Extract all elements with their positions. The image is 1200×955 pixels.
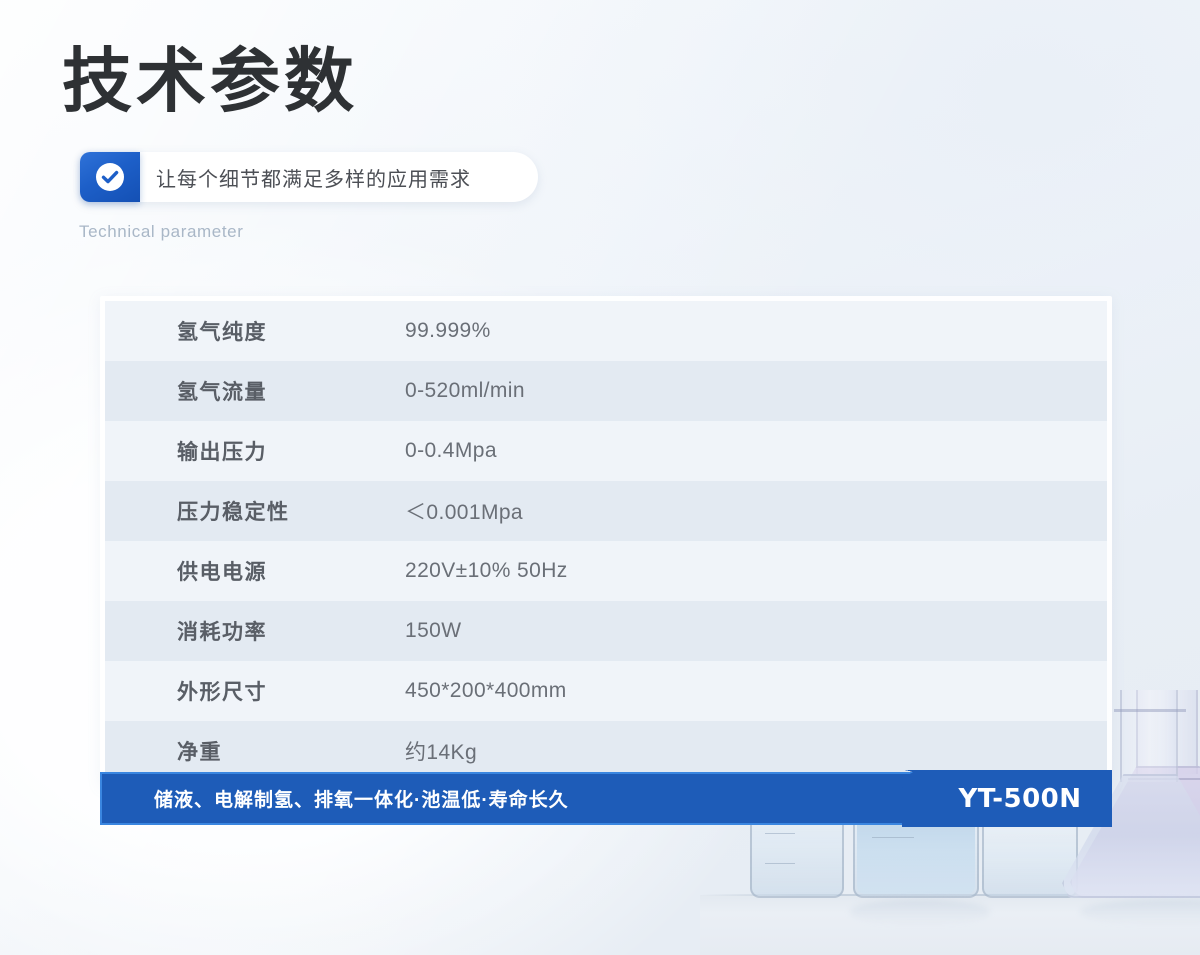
spec-label: 消耗功率 xyxy=(177,616,405,646)
table-row: 压力稳定性＜0.001Mpa xyxy=(105,481,1107,541)
spec-value: 0-520ml/min xyxy=(405,379,525,403)
table-row: 氢气纯度99.999% xyxy=(105,301,1107,361)
page-title: 技术参数 xyxy=(62,46,358,116)
spec-label: 氢气流量 xyxy=(177,376,405,406)
spec-value: 0-0.4Mpa xyxy=(405,439,497,463)
model-badge: YT-500N xyxy=(928,770,1112,827)
spec-value: 220V±10% 50Hz xyxy=(405,559,568,583)
graduation-mark xyxy=(765,833,796,835)
spec-value: ＜0.001Mpa xyxy=(405,496,523,526)
flask-neck xyxy=(1120,690,1178,782)
reflection xyxy=(850,899,990,925)
spec-label: 外形尺寸 xyxy=(177,676,405,706)
table-row: 输出压力0-0.4Mpa xyxy=(105,421,1107,481)
flask-band xyxy=(1114,709,1186,712)
spec-value: 约14Kg xyxy=(405,736,477,766)
graduation-mark xyxy=(765,863,796,865)
spec-value: 99.999% xyxy=(405,319,491,343)
check-circle-icon xyxy=(80,152,140,202)
model-number: YT-500N xyxy=(958,784,1081,814)
table-row: 氢气流量0-520ml/min xyxy=(105,361,1107,421)
spec-value: 150W xyxy=(405,619,461,643)
tagline-banner: 让每个细节都满足多样的应用需求 xyxy=(80,152,538,202)
spec-label: 压力稳定性 xyxy=(177,496,405,526)
graduation-mark xyxy=(872,837,913,839)
spec-label: 氢气纯度 xyxy=(177,316,405,346)
tagline-text: 让每个细节都满足多样的应用需求 xyxy=(140,152,471,202)
table-row: 外形尺寸450*200*400mm xyxy=(105,661,1107,721)
spec-value: 450*200*400mm xyxy=(405,679,567,703)
table-row: 供电电源220V±10% 50Hz xyxy=(105,541,1107,601)
header: 技术参数 xyxy=(62,46,358,116)
spec-table: 氢气纯度99.999%氢气流量0-520ml/min输出压力0-0.4Mpa压力… xyxy=(100,296,1112,786)
table-row: 消耗功率150W xyxy=(105,601,1107,661)
footer-tagline: 储液、电解制氢、排氧一体化·池温低·寿命长久 xyxy=(102,785,569,812)
spec-label: 净重 xyxy=(177,736,405,766)
spec-label: 供电电源 xyxy=(177,556,405,586)
subtitle-english: Technical parameter xyxy=(79,222,243,242)
spec-label: 输出压力 xyxy=(177,436,405,466)
